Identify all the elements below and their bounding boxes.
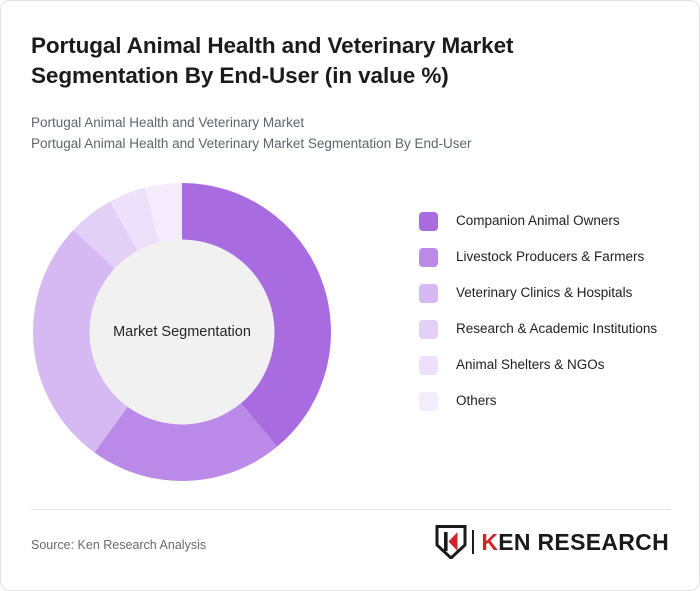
legend-item[interactable]: Veterinary Clinics & Hospitals bbox=[419, 283, 689, 303]
legend-swatch-icon bbox=[419, 212, 438, 231]
legend-swatch-icon bbox=[419, 320, 438, 339]
logo-wordmark-rest: EN RESEARCH bbox=[498, 529, 669, 555]
ken-research-logo: KEN RESEARCH bbox=[435, 525, 669, 559]
chart-legend: Companion Animal OwnersLivestock Produce… bbox=[419, 211, 689, 427]
legend-swatch-icon bbox=[419, 248, 438, 267]
legend-swatch-icon bbox=[419, 284, 438, 303]
legend-item[interactable]: Research & Academic Institutions bbox=[419, 319, 689, 339]
legend-item-label: Veterinary Clinics & Hospitals bbox=[456, 283, 632, 302]
legend-item-label: Animal Shelters & NGOs bbox=[456, 355, 605, 374]
legend-item-label: Livestock Producers & Farmers bbox=[456, 247, 644, 266]
legend-item-label: Others bbox=[456, 391, 497, 410]
legend-item[interactable]: Animal Shelters & NGOs bbox=[419, 355, 689, 375]
chart-area: Market Segmentation Companion Animal Own… bbox=[1, 166, 700, 496]
logo-wordmark: KEN RESEARCH bbox=[481, 529, 669, 556]
footer-divider bbox=[31, 509, 671, 510]
donut-slices bbox=[33, 183, 331, 481]
chart-card: Portugal Animal Health and Veterinary Ma… bbox=[0, 0, 700, 591]
legend-item-label: Research & Academic Institutions bbox=[456, 319, 657, 338]
page-title: Portugal Animal Health and Veterinary Ma… bbox=[31, 31, 631, 90]
logo-separator bbox=[472, 530, 474, 554]
legend-item-label: Companion Animal Owners bbox=[456, 211, 620, 230]
donut-chart: Market Segmentation bbox=[32, 182, 332, 482]
legend-item[interactable]: Others bbox=[419, 391, 689, 411]
donut-hole bbox=[90, 240, 275, 425]
logo-wordmark-accent: K bbox=[481, 529, 498, 555]
legend-item[interactable]: Livestock Producers & Farmers bbox=[419, 247, 689, 267]
ken-research-logo-mark bbox=[435, 525, 467, 559]
legend-item[interactable]: Companion Animal Owners bbox=[419, 211, 689, 231]
legend-swatch-icon bbox=[419, 356, 438, 375]
legend-swatch-icon bbox=[419, 392, 438, 411]
donut-svg bbox=[32, 182, 332, 482]
subtitle-line-2: Portugal Animal Health and Veterinary Ma… bbox=[31, 134, 651, 155]
source-note: Source: Ken Research Analysis bbox=[31, 538, 206, 552]
subtitle-group: Portugal Animal Health and Veterinary Ma… bbox=[31, 113, 651, 155]
subtitle-line-1: Portugal Animal Health and Veterinary Ma… bbox=[31, 113, 651, 134]
